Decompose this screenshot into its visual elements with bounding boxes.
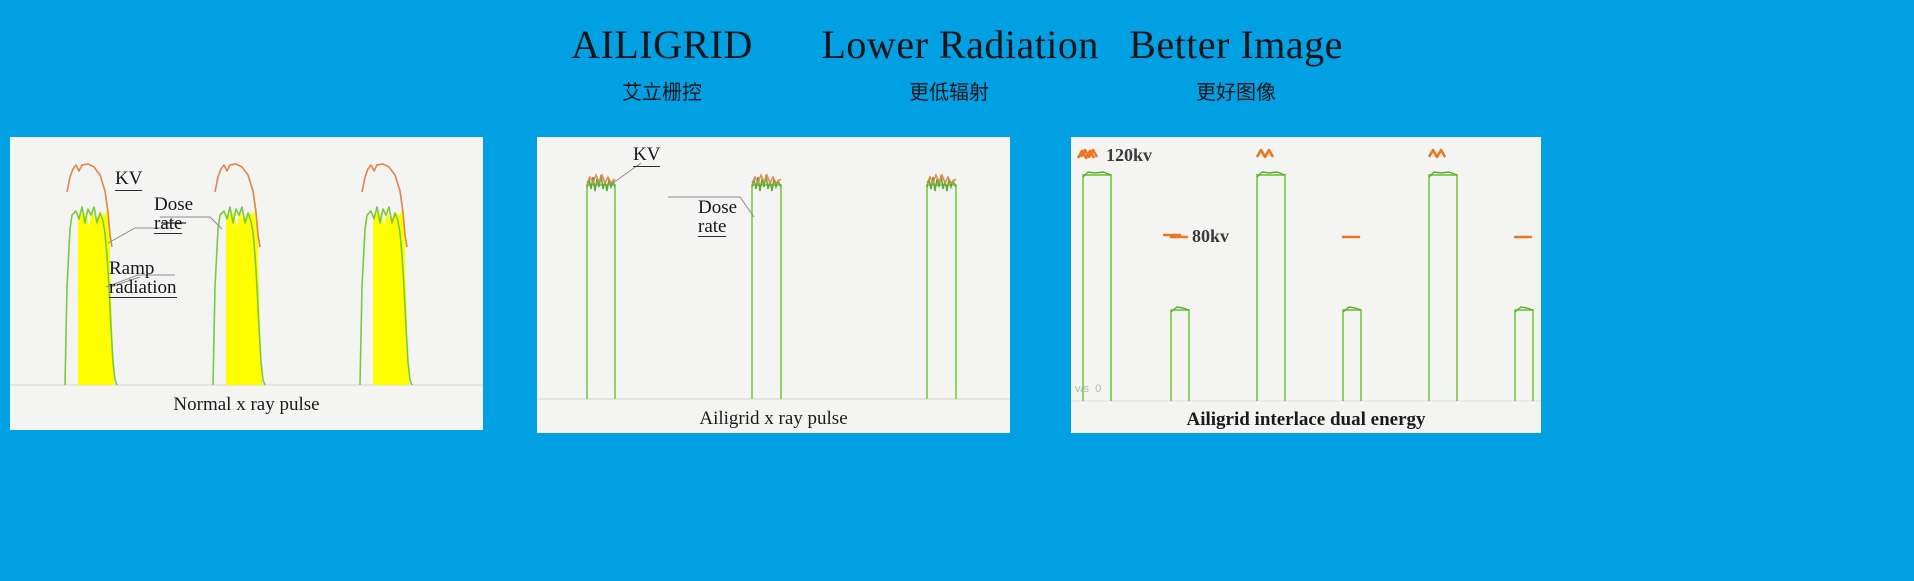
annotation-dose-rate2-line1: Dose bbox=[698, 198, 737, 217]
caption-normal-pulse: Normal x ray pulse bbox=[10, 394, 483, 416]
zigzag-marker-icon bbox=[1077, 147, 1097, 165]
annotation-dose-rate-line1: Dose bbox=[154, 195, 193, 214]
legend-label-120kv: 120kv bbox=[1106, 145, 1152, 166]
header-title-1: AILIGRID bbox=[535, 22, 790, 68]
annotation-ramp-line2: radiation bbox=[109, 278, 177, 298]
header-title-3: Better Image bbox=[1109, 22, 1364, 68]
legend-item-120kv: 120kv bbox=[1077, 145, 1152, 166]
annotation-ramp-radiation-panel1: Ramp radiation bbox=[109, 259, 177, 298]
header-subtitle-1: 艾立栅控 bbox=[535, 78, 790, 106]
legend-item-80kv: 80kv bbox=[1163, 226, 1229, 247]
caption-dual-energy: Ailigrid interlace dual energy bbox=[1071, 409, 1541, 431]
annotation-dose-rate-panel1: Dose rate bbox=[154, 195, 193, 234]
chart-panel-normal-pulse: KV Dose rate Ramp radiation bbox=[10, 137, 483, 430]
chart-panel-dual-energy: 120kv 80kv v/s 0 bbox=[1071, 137, 1541, 433]
chart-dual-energy bbox=[1071, 137, 1541, 433]
header-subtitle-2: 更低辐射 bbox=[822, 78, 1077, 106]
header-title-2: Lower Radiation bbox=[822, 22, 1077, 68]
header-banner: AILIGRID 艾立栅控 Lower Radiation 更低辐射 Bette… bbox=[0, 22, 1914, 122]
legend-label-80kv: 80kv bbox=[1192, 226, 1229, 247]
chart-ailigrid-pulse bbox=[537, 137, 1010, 433]
axis-origin-label: v/s 0 bbox=[1075, 383, 1101, 395]
annotation-dose-rate2-line2: rate bbox=[698, 217, 726, 237]
chart-normal-pulse bbox=[10, 137, 483, 430]
slide-root: AILIGRID 艾立栅控 Lower Radiation 更低辐射 Bette… bbox=[0, 0, 1914, 581]
caption-ailigrid-pulse: Ailigrid x ray pulse bbox=[537, 408, 1010, 430]
header-column-ailigrid: AILIGRID 艾立栅控 bbox=[535, 22, 790, 106]
annotation-dose-rate-line2: rate bbox=[154, 214, 182, 234]
header-column-lower-radiation: Lower Radiation 更低辐射 bbox=[822, 22, 1077, 106]
chart-panel-ailigrid-pulse: KV Dose rate bbox=[537, 137, 1010, 433]
header-subtitle-3: 更好图像 bbox=[1109, 78, 1364, 106]
annotation-dose-rate-panel2: Dose rate bbox=[698, 198, 737, 237]
annotation-kv-panel2: KV bbox=[633, 145, 660, 167]
annotation-kv-panel1: KV bbox=[115, 169, 142, 191]
header-column-better-image: Better Image 更好图像 bbox=[1109, 22, 1364, 106]
annotation-ramp-line1: Ramp bbox=[109, 259, 177, 278]
dash-marker-icon bbox=[1163, 228, 1183, 246]
